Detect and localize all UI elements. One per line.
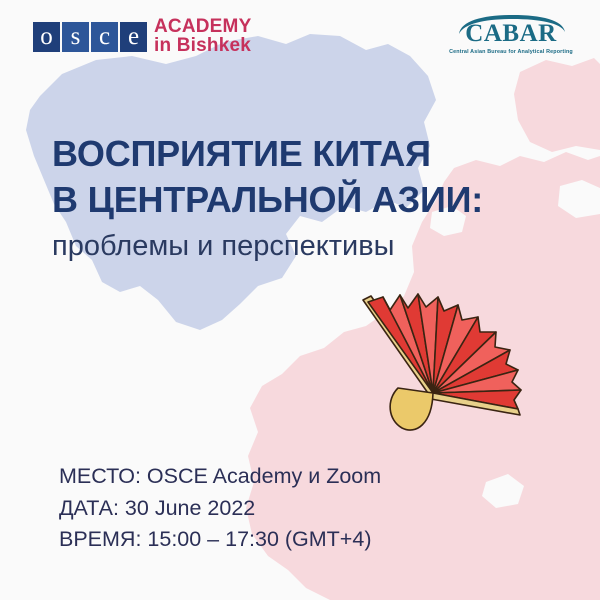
osce-academy-logo[interactable]: o s c e ACADEMY in Bishkek — [33, 17, 251, 58]
detail-place: МЕСТО: OSCE Academy и Zoom — [59, 461, 381, 493]
cabar-logo[interactable]: CABAR Central Asian Bureau for Analytica… — [436, 14, 586, 55]
map-shape-lake — [482, 474, 524, 508]
osce-wordmark-academy: ACADEMY — [154, 17, 251, 36]
osce-square-c: c — [91, 22, 118, 52]
event-details: МЕСТО: OSCE Academy и Zoom ДАТА: 30 June… — [59, 461, 381, 556]
headline-line-2: В ЦЕНТРАЛЬНОЙ АЗИИ: — [52, 177, 562, 223]
osce-wordmark-bishkek: in Bishkek — [154, 36, 251, 55]
detail-time: ВРЕМЯ: 15:00 – 17:30 (GMT+4) — [59, 524, 381, 556]
osce-wordmark: ACADEMY in Bishkek — [154, 17, 251, 58]
cabar-wordmark-icon: CABAR — [451, 14, 571, 48]
chinese-hand-fan-icon — [338, 288, 528, 433]
detail-date: ДАТА: 30 June 2022 — [59, 493, 381, 525]
osce-square-e: e — [120, 22, 147, 52]
svg-text:CABAR: CABAR — [465, 20, 557, 47]
map-shape-china-notch-2 — [558, 180, 600, 218]
headline-line-1: ВОСПРИЯТИЕ КИТАЯ — [52, 131, 562, 177]
event-poster: o s c e ACADEMY in Bishkek CABAR Central… — [0, 0, 600, 600]
headline-subtitle: проблемы и перспективы — [52, 228, 562, 264]
osce-letter-squares: o s c e — [33, 22, 147, 52]
cabar-tagline: Central Asian Bureau for Analytical Repo… — [436, 49, 586, 55]
osce-square-s: s — [62, 22, 89, 52]
osce-square-o: o — [33, 22, 60, 52]
page-title: ВОСПРИЯТИЕ КИТАЯ В ЦЕНТРАЛЬНОЙ АЗИИ: про… — [52, 131, 562, 264]
